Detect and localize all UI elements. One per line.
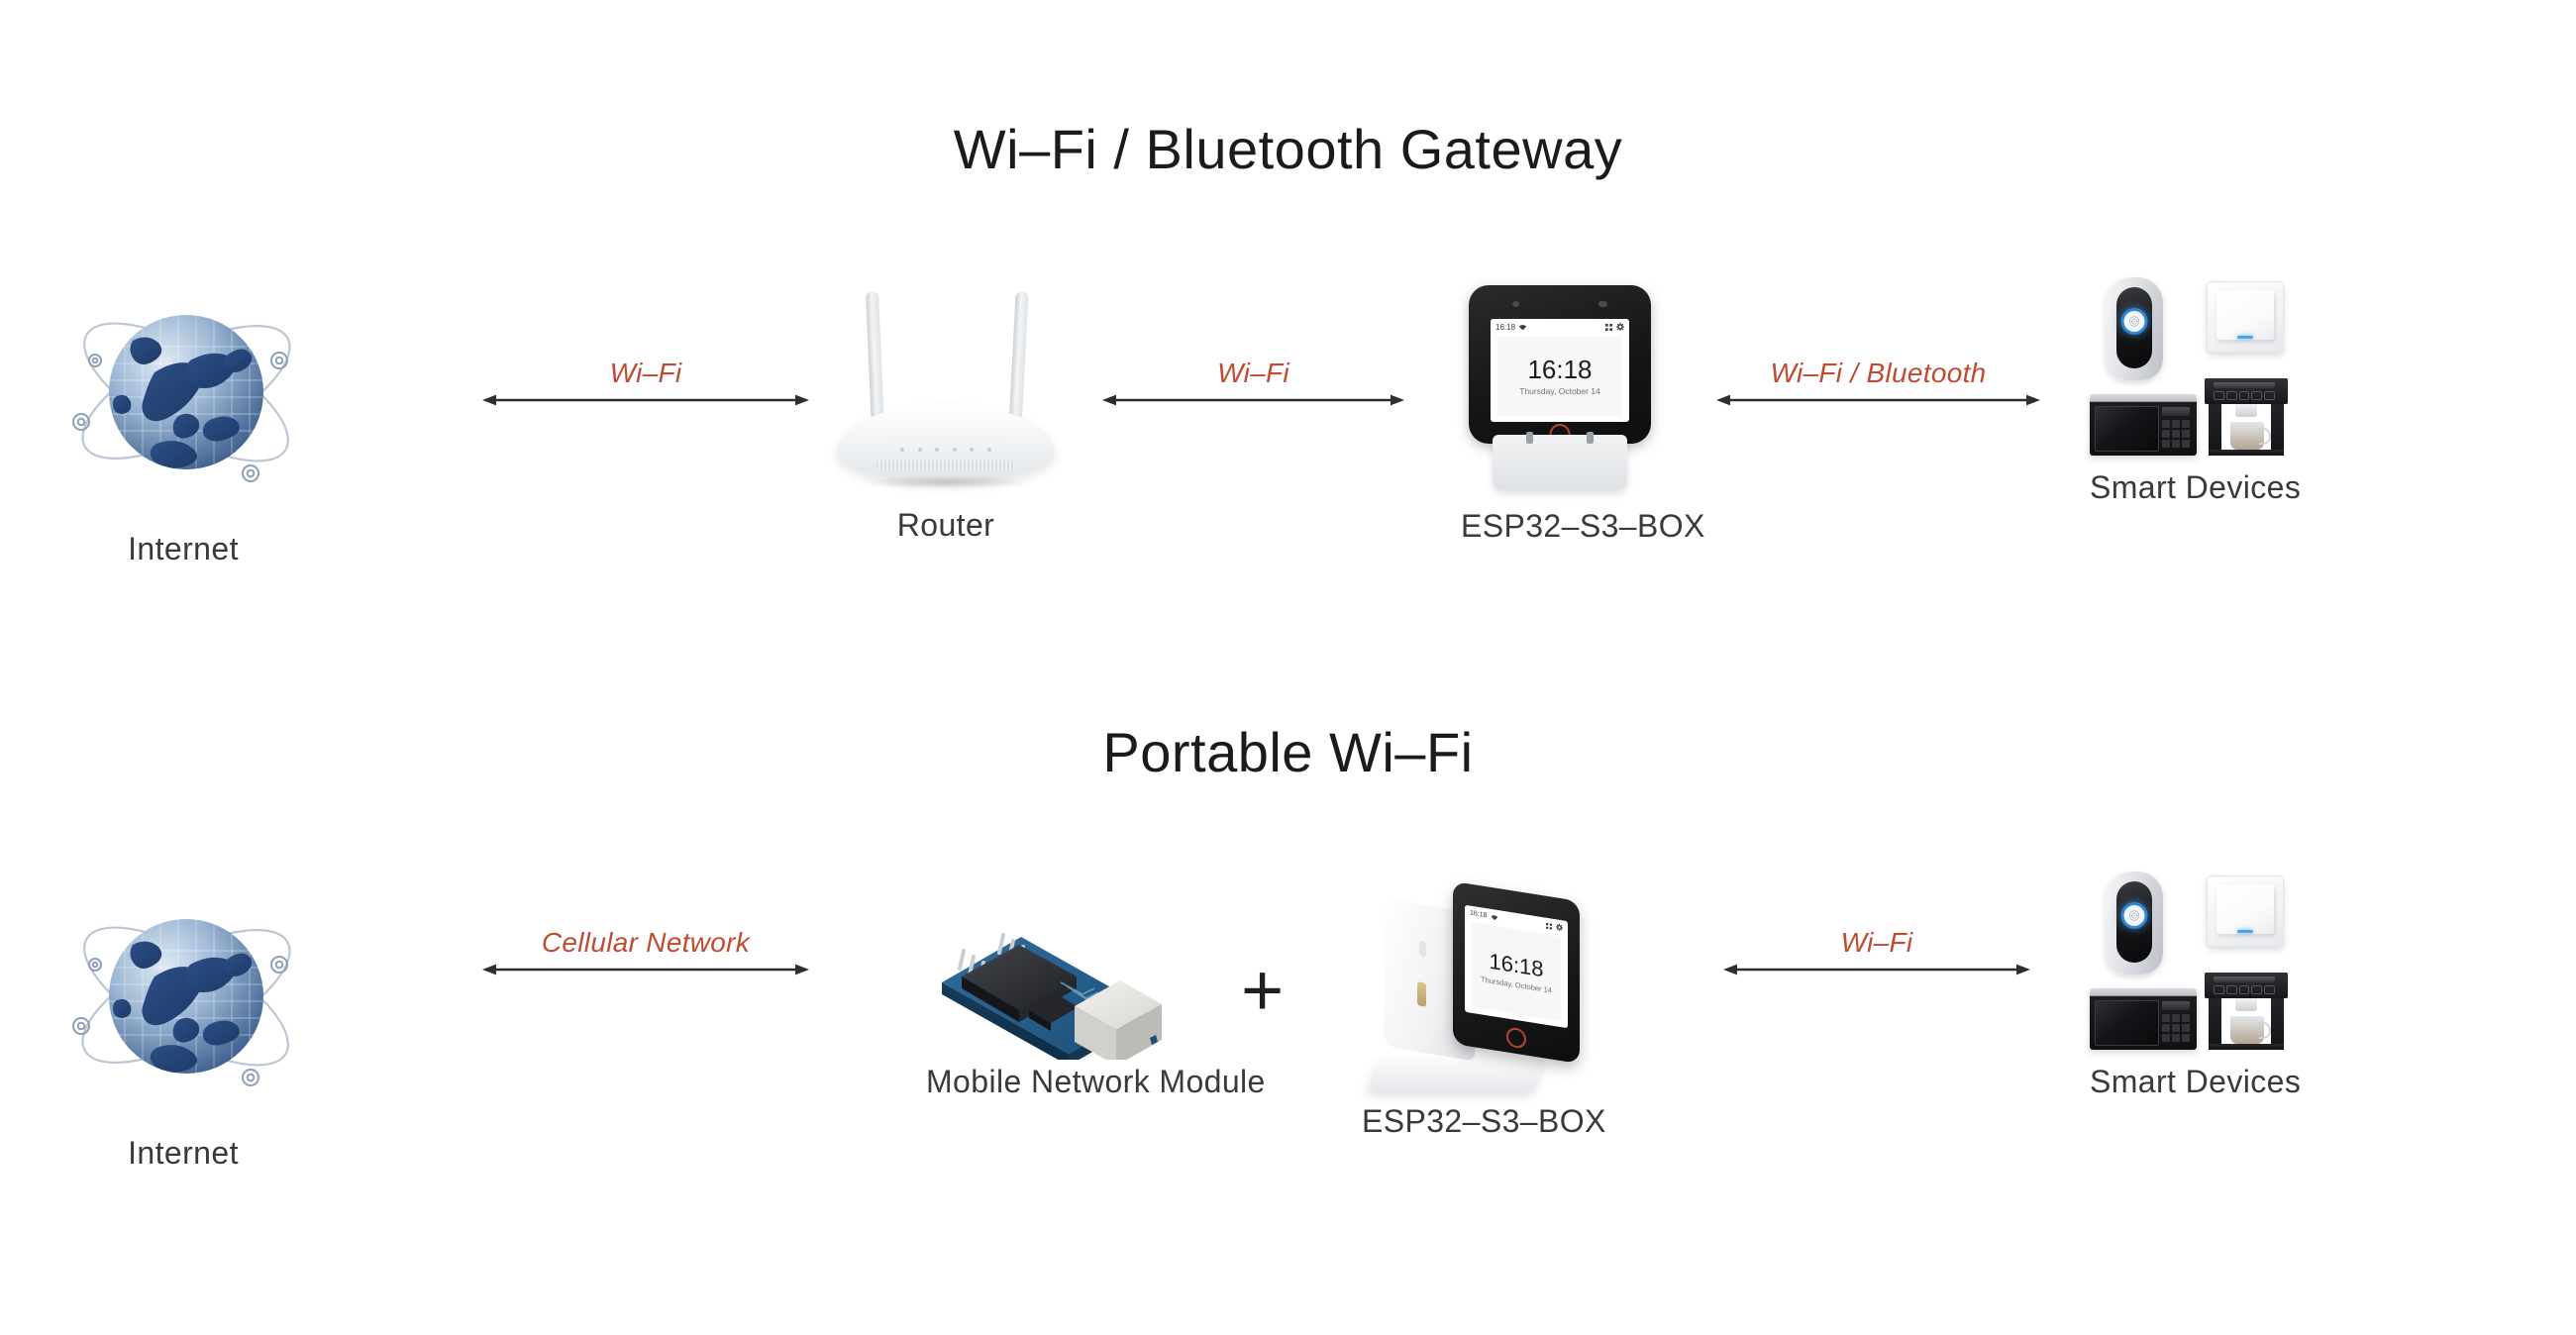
node-router: Router	[837, 287, 1055, 544]
node-internet-2: Internet	[59, 873, 307, 1172]
screen-clock: 16:18	[1527, 357, 1592, 382]
wall-switch-icon	[2207, 875, 2284, 947]
connection-label-wifi-bluetooth: Wi–Fi / Bluetooth	[1716, 358, 2040, 389]
gear-icon	[1556, 917, 1563, 936]
screen-date: Thursday, October 14	[1519, 386, 1600, 396]
section-title-gateway: Wi–Fi / Bluetooth Gateway	[0, 117, 2576, 181]
node-mobile-module: Mobile Network Module	[926, 891, 1164, 1100]
connection-esp-devices-2: Wi–Fi	[1723, 961, 2030, 1020]
connection-label-wifi-2: Wi–Fi	[1102, 358, 1404, 389]
router-shadow	[861, 475, 1031, 489]
wall-switch-icon	[2207, 281, 2284, 353]
diagram-canvas: Wi–Fi / Bluetooth Gateway	[0, 0, 2576, 1335]
node-esp32-box-2: 16:18 16:18	[1362, 879, 1590, 1140]
router-vent	[876, 461, 1015, 469]
smart-speaker-icon	[2106, 872, 2163, 975]
node-smart-devices-2: Smart Devices	[2090, 872, 2288, 1100]
combiner-plus-sign: +	[1241, 954, 1284, 1027]
router-icon	[837, 287, 1055, 495]
grid-icon	[1546, 916, 1552, 935]
node-label-internet: Internet	[59, 531, 307, 567]
connection-label-wifi-3: Wi–Fi	[1723, 927, 2030, 959]
connection-esp-devices: Wi–Fi / Bluetooth	[1716, 391, 2040, 451]
node-label-esp32-box-2: ESP32–S3–BOX	[1362, 1103, 1590, 1140]
node-esp32-box: 16:18 16:18	[1461, 285, 1659, 545]
esp-box-screen: 16:18 16:18	[1491, 319, 1629, 422]
esp-box-stand	[1493, 435, 1627, 490]
node-label-smart-devices: Smart Devices	[2090, 469, 2288, 506]
pcb-module-icon	[926, 891, 1164, 1060]
status-bar-time: 16:18	[1470, 909, 1488, 919]
wifi-icon	[1518, 319, 1527, 336]
status-bar-time: 16:18	[1495, 323, 1515, 332]
smart-devices-cluster	[2090, 277, 2288, 456]
smart-devices-cluster	[2090, 872, 2288, 1050]
connection-router-esp: Wi–Fi	[1102, 391, 1404, 451]
connection-internet-module: Cellular Network	[482, 961, 809, 1020]
node-label-esp32-box: ESP32–S3–BOX	[1461, 508, 1659, 545]
section-title-portable: Portable Wi–Fi	[0, 720, 2576, 784]
connection-internet-router: Wi–Fi	[482, 391, 809, 451]
node-label-internet-2: Internet	[59, 1135, 307, 1172]
connection-label-cellular: Cellular Network	[482, 927, 809, 959]
esp-box-stand-angled	[1368, 1058, 1546, 1091]
esp-box-sensor	[1598, 301, 1607, 307]
screen-status-bar: 16:18	[1491, 319, 1629, 335]
node-internet: Internet	[59, 269, 307, 567]
node-label-router: Router	[837, 507, 1055, 544]
wifi-icon	[1491, 907, 1498, 926]
node-label-smart-devices-2: Smart Devices	[2090, 1064, 2288, 1100]
router-antenna-left	[866, 291, 884, 430]
coffee-machine-icon	[2205, 378, 2288, 456]
node-label-mobile-module: Mobile Network Module	[926, 1064, 1164, 1100]
screen-clock: 16:18	[1489, 950, 1543, 980]
smart-speaker-icon	[2106, 277, 2163, 380]
esp-box-port	[1417, 981, 1426, 1007]
esp32-s3-box-device-angled: 16:18 16:18	[1362, 879, 1590, 1097]
globe-icon	[59, 269, 307, 517]
router-antenna-right	[1008, 291, 1028, 430]
connection-label-wifi-1: Wi–Fi	[482, 358, 809, 389]
router-top-plate	[878, 406, 1013, 444]
grid-icon	[1605, 319, 1612, 336]
screen-clock-card: 16:18 Thursday, October 14	[1497, 337, 1622, 416]
microwave-icon	[2090, 394, 2197, 456]
gear-icon	[1616, 319, 1624, 336]
coffee-machine-icon	[2205, 973, 2288, 1050]
node-smart-devices: Smart Devices	[2090, 277, 2288, 506]
router-leds	[900, 448, 991, 452]
esp-box-side-button[interactable]	[1419, 940, 1426, 957]
globe-icon	[59, 873, 307, 1121]
microwave-icon	[2090, 988, 2197, 1050]
esp-box-camera	[1512, 301, 1519, 307]
screen-clock-card: 16:18 Thursday, October 14	[1472, 922, 1561, 1021]
esp-box-screen-angled: 16:18 16:18	[1465, 905, 1568, 1028]
esp32-s3-box-device: 16:18 16:18	[1461, 285, 1659, 498]
